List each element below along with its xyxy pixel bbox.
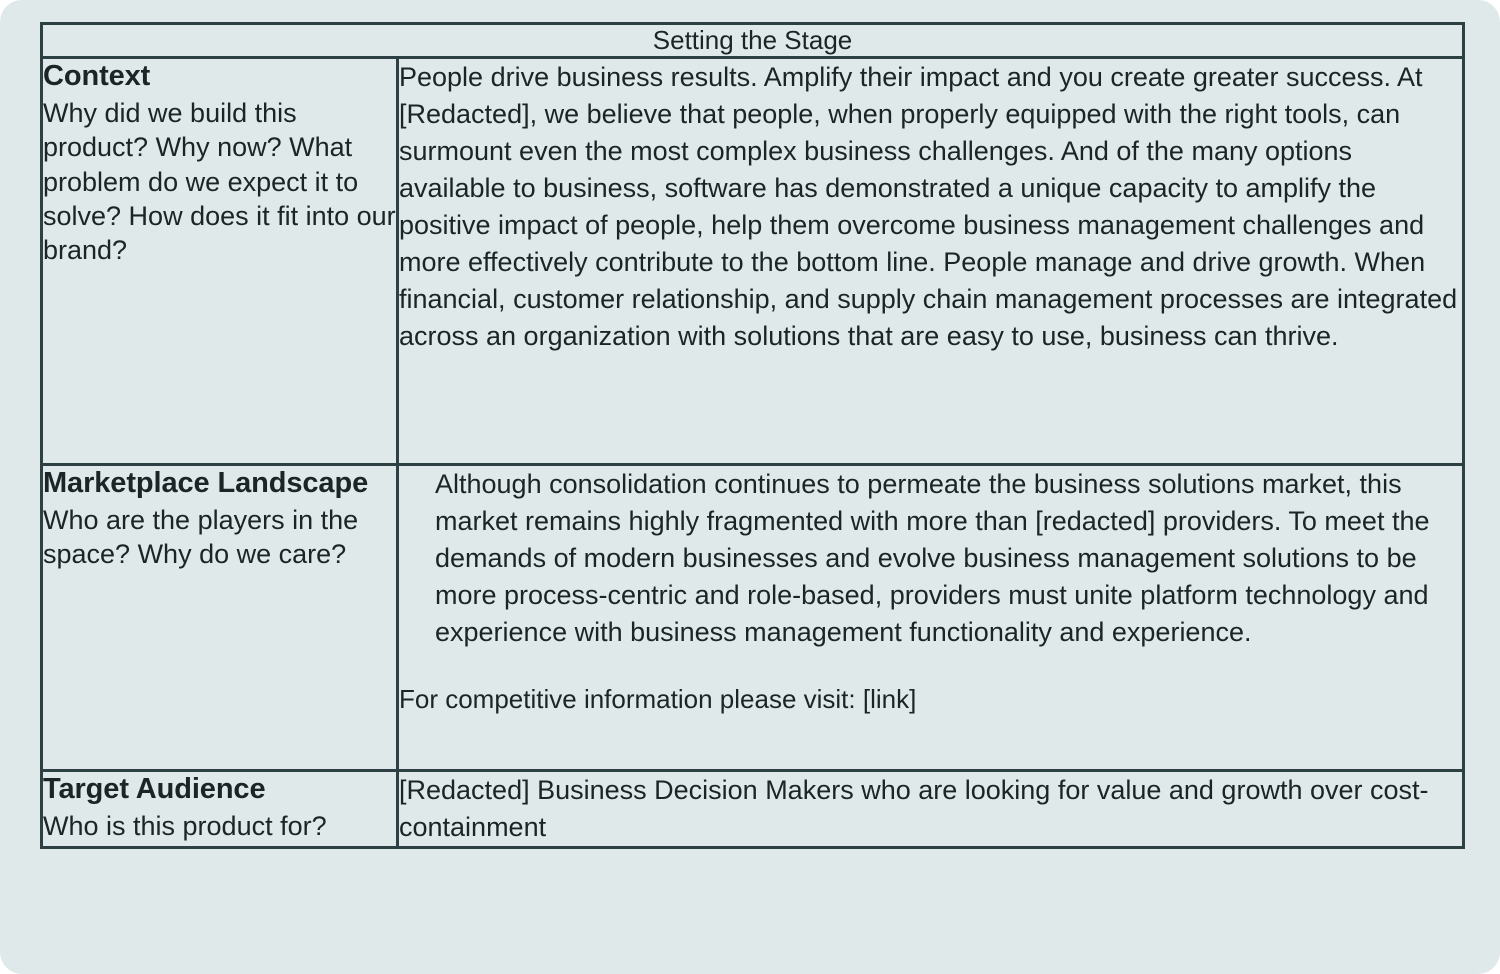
competitive-info-link-note[interactable]: For competitive information please visit… <box>399 681 1462 718</box>
table-header-row: Setting the Stage <box>42 24 1464 58</box>
row-prompt-context: Why did we build this product? Why now? … <box>43 96 396 267</box>
row-body-text-target-audience: [Redacted] Business Decision Makers who … <box>399 772 1462 846</box>
row-title-marketplace-landscape: Marketplace Landscape <box>43 466 396 502</box>
row-body-text-marketplace-landscape: Although consolidation continues to perm… <box>399 466 1462 651</box>
table-row: Target Audience Who is this product for?… <box>42 771 1464 848</box>
row-body-text-context: People drive business results. Amplify t… <box>399 59 1462 355</box>
row-body-target-audience: [Redacted] Business Decision Makers who … <box>398 771 1464 848</box>
table-row: Context Why did we build this product? W… <box>42 58 1464 465</box>
row-title-context: Context <box>43 59 396 95</box>
row-label-target-audience: Target Audience Who is this product for? <box>42 771 398 848</box>
setting-the-stage-table: Setting the Stage Context Why did we bui… <box>40 22 1465 849</box>
table-row: Marketplace Landscape Who are the player… <box>42 465 1464 771</box>
body-spacer <box>399 651 1462 681</box>
slide-page: Setting the Stage Context Why did we bui… <box>0 0 1500 974</box>
row-title-target-audience: Target Audience <box>43 772 396 808</box>
row-label-marketplace-landscape: Marketplace Landscape Who are the player… <box>42 465 398 771</box>
row-prompt-marketplace-landscape: Who are the players in the space? Why do… <box>43 503 396 572</box>
row-prompt-target-audience: Who is this product for? <box>43 809 396 843</box>
row-body-context: People drive business results. Amplify t… <box>398 58 1464 465</box>
row-body-marketplace-landscape: Although consolidation continues to perm… <box>398 465 1464 771</box>
row-label-context: Context Why did we build this product? W… <box>42 58 398 465</box>
table-title: Setting the Stage <box>42 24 1464 58</box>
